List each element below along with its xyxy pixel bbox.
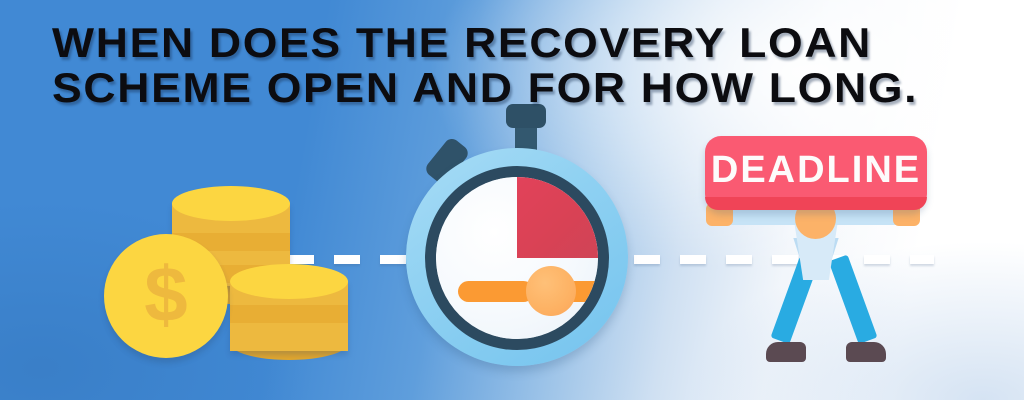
- page-title: WHEN DOES THE RECOVERY LOAN SCHEME OPEN …: [52, 22, 892, 108]
- headline-line-1: WHEN DOES THE RECOVERY LOAN: [52, 22, 942, 63]
- stopwatch-icon: [406, 104, 646, 366]
- stopwatch-outer-ring: [406, 148, 628, 366]
- stopwatch-bezel: [425, 166, 609, 350]
- dashed-line-right: [634, 255, 934, 264]
- banner-image: WHEN DOES THE RECOVERY LOAN SCHEME OPEN …: [0, 0, 1024, 400]
- stopwatch-face: [436, 177, 598, 339]
- person-shoe-right: [846, 342, 886, 362]
- stopwatch-center-hub: [526, 266, 576, 316]
- deadline-sign-shadow-edge: [705, 197, 927, 210]
- deadline-sign: DEADLINE: [705, 136, 927, 210]
- deadline-sign-label: DEADLINE: [705, 144, 927, 196]
- person-shoe-left: [766, 342, 806, 362]
- stopwatch-elapsed-sector: [517, 177, 598, 258]
- headline-line-2: SCHEME OPEN AND FOR HOW LONG.: [52, 67, 942, 108]
- person-holding-sign-icon: [0, 130, 250, 368]
- stopwatch-hand-left: [458, 281, 534, 302]
